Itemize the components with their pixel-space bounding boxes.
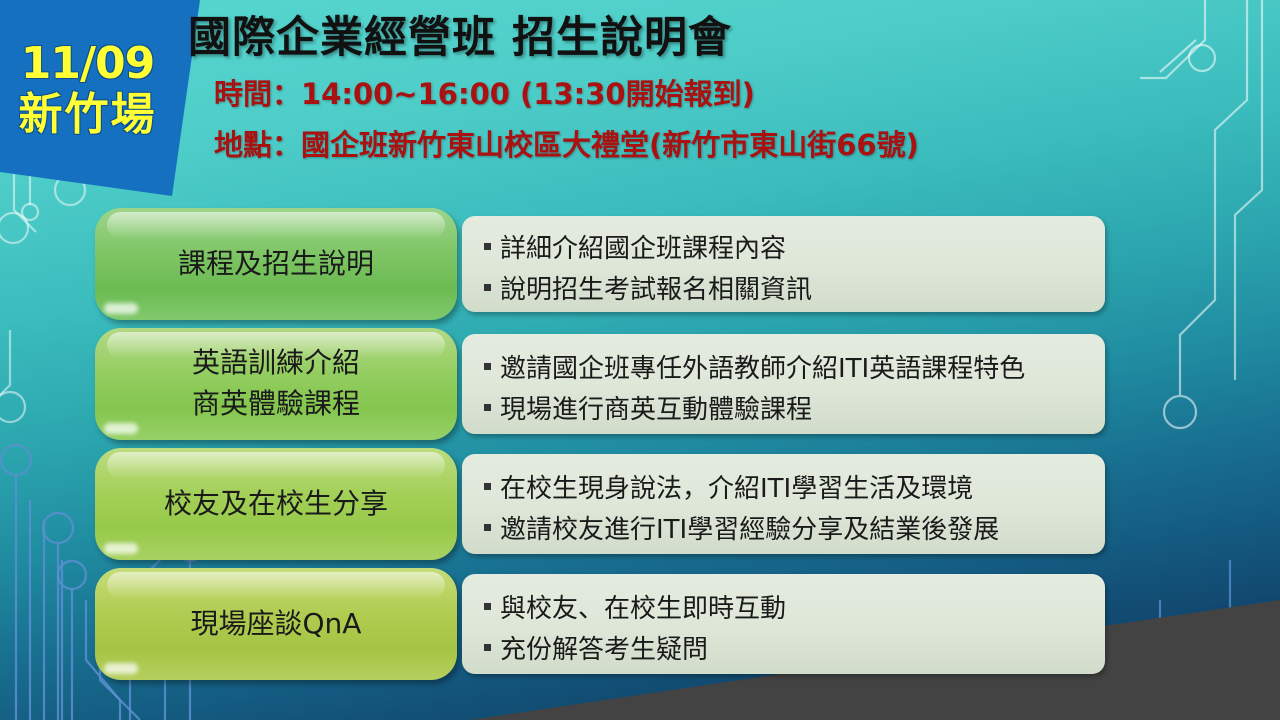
agenda-detail-panel-2: 邀請國企班專任外語教師介紹ITI英語課程特色 現場進行商英互動體驗課程 [462, 334, 1105, 434]
agenda-row: 校友及在校生分享 在校生現身說法，介紹ITI學習生活及環境 邀請校友進行ITI學… [95, 448, 1105, 560]
bullet-icon [484, 404, 491, 411]
agenda-detail-panel-4: 與校友、在校生即時互動 充份解答考生疑問 [462, 574, 1105, 674]
bullet-text: 邀請國企班專任外語教師介紹ITI英語課程特色 [500, 349, 1025, 389]
agenda-pill-3[interactable]: 校友及在校生分享 [95, 448, 457, 560]
agenda-detail-panel-3: 在校生現身說法，介紹ITI學習生活及環境 邀請校友進行ITI學習經驗分享及結業後… [462, 454, 1105, 554]
agenda-detail-panel-1: 詳細介紹國企班課程內容 說明招生考試報名相關資訊 [462, 216, 1105, 312]
bullet-item: 在校生現身說法，介紹ITI學習生活及環境 [484, 469, 1097, 509]
agenda-row: 英語訓練介紹 商英體驗課程 邀請國企班專任外語教師介紹ITI英語課程特色 現場進… [95, 328, 1105, 440]
bullet-text: 現場進行商英互動體驗課程 [500, 390, 812, 430]
bullet-item: 與校友、在校生即時互動 [484, 589, 1097, 629]
bullet-icon [484, 603, 491, 610]
agenda-pill-label: 現場座談QnA [191, 604, 362, 645]
bullet-icon [484, 284, 491, 291]
agenda-pill-1[interactable]: 課程及招生說明 [95, 208, 457, 320]
agenda-pill-label: 校友及在校生分享 [164, 484, 388, 525]
badge-venue: 新竹場 [19, 92, 157, 138]
date-badge: 11/09 新竹場 [0, 0, 175, 180]
bullet-text: 邀請校友進行ITI學習經驗分享及結業後發展 [500, 510, 999, 550]
agenda-pill-label-2: 商英體驗課程 [192, 384, 360, 425]
agenda-pill-label: 課程及招生說明 [178, 244, 374, 285]
event-place: 地點：國企班新竹東山校區大禮堂(新竹市東山街66號) [214, 123, 1188, 168]
bullet-text: 充份解答考生疑問 [500, 630, 708, 670]
slide-canvas: 11/09 新竹場 國際企業經營班 招生說明會 時間：14:00~16:00 (… [0, 0, 1280, 720]
bullet-icon [484, 483, 491, 490]
header-block: 國際企業經營班 招生說明會 時間：14:00~16:00 (13:30開始報到)… [188, 14, 1188, 168]
bullet-item: 詳細介紹國企班課程內容 [484, 229, 1097, 269]
bullet-item: 現場進行商英互動體驗課程 [484, 390, 1097, 430]
agenda-pill-2[interactable]: 英語訓練介紹 商英體驗課程 [95, 328, 457, 440]
bullet-text: 說明招生考試報名相關資訊 [500, 270, 812, 310]
bullet-icon [484, 363, 491, 370]
bullet-item: 說明招生考試報名相關資訊 [484, 270, 1097, 310]
bullet-icon [484, 524, 491, 531]
agenda-list: 課程及招生說明 詳細介紹國企班課程內容 說明招生考試報名相關資訊 英語訓練介紹 … [95, 208, 1105, 688]
agenda-pill-4[interactable]: 現場座談QnA [95, 568, 457, 680]
bullet-text: 在校生現身說法，介紹ITI學習生活及環境 [500, 469, 973, 509]
bullet-icon [484, 243, 491, 250]
agenda-row: 課程及招生說明 詳細介紹國企班課程內容 說明招生考試報名相關資訊 [95, 208, 1105, 320]
bullet-text: 與校友、在校生即時互動 [500, 589, 786, 629]
bullet-item: 充份解答考生疑問 [484, 630, 1097, 670]
bullet-item: 邀請校友進行ITI學習經驗分享及結業後發展 [484, 510, 1097, 550]
bullet-text: 詳細介紹國企班課程內容 [500, 229, 786, 269]
agenda-pill-label: 英語訓練介紹 [192, 343, 360, 384]
event-time: 時間：14:00~16:00 (13:30開始報到) [214, 72, 1188, 117]
page-title: 國際企業經營班 招生說明會 [188, 14, 1188, 63]
bullet-icon [484, 644, 491, 651]
bullet-item: 邀請國企班專任外語教師介紹ITI英語課程特色 [484, 349, 1097, 389]
badge-date: 11/09 [21, 42, 155, 86]
agenda-row: 現場座談QnA 與校友、在校生即時互動 充份解答考生疑問 [95, 568, 1105, 680]
